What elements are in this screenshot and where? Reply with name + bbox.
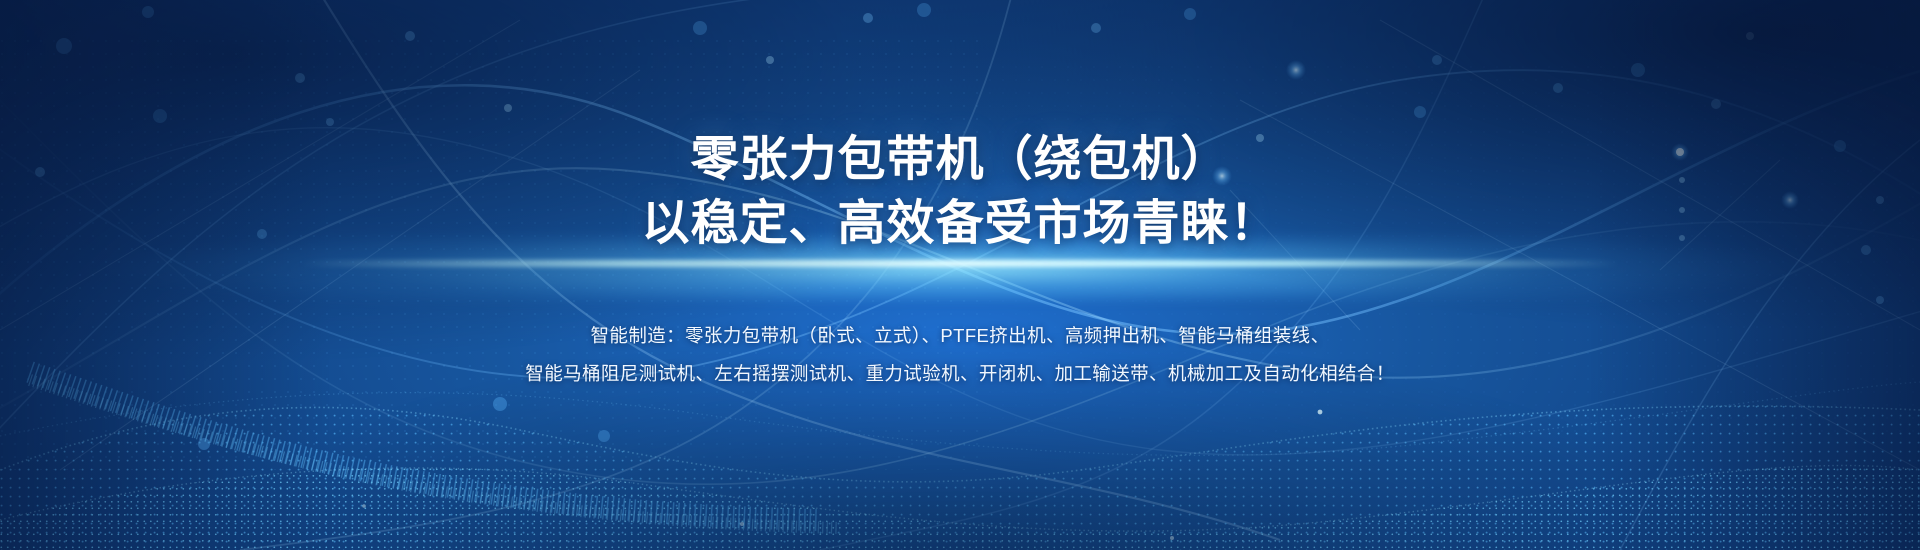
headline-line-2: 以稳定、高效备受市场青睐！ — [641, 192, 1278, 255]
headline-line-1: 零张力包带机（绕包机） — [690, 133, 1229, 186]
subtitle-line-2: 智能马桶阻尼测试机、左右摇摆测试机、重力试验机、开闭机、加工输送带、机械加工及自… — [525, 355, 1394, 393]
hero-banner: 零张力包带机（绕包机） 以稳定、高效备受市场青睐！ 智能制造：零张力包带机（卧式… — [0, 0, 1920, 550]
banner-headline: 零张力包带机（绕包机） 以稳定、高效备受市场青睐！ — [641, 128, 1278, 255]
subtitle-line-1: 智能制造：零张力包带机（卧式、立式）、PTFE挤出机、高频押出机、智能马桶组装线… — [525, 317, 1394, 355]
banner-content: 零张力包带机（绕包机） 以稳定、高效备受市场青睐！ 智能制造：零张力包带机（卧式… — [0, 0, 1920, 550]
banner-subtitle: 智能制造：零张力包带机（卧式、立式）、PTFE挤出机、高频押出机、智能马桶组装线… — [525, 317, 1394, 393]
